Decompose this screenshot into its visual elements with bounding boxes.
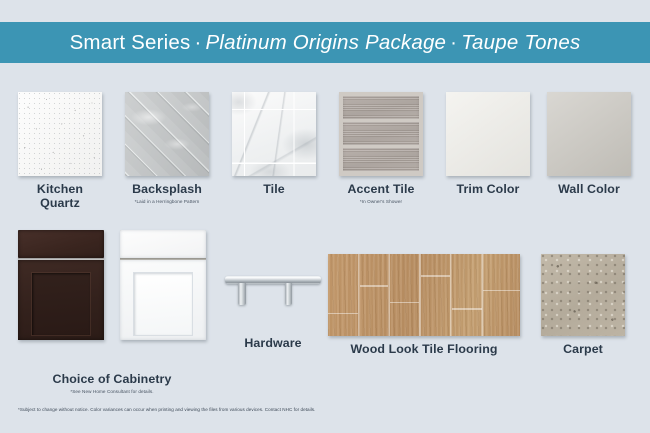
cabinet-door-front: [18, 260, 104, 340]
pull-post-left: [238, 283, 245, 305]
plank-horizontal-seam: [421, 275, 450, 276]
cabinet-drawer-front: [120, 230, 206, 258]
cabinetry-sublabel: *See New Home Consultant for details.: [18, 389, 206, 394]
backsplash-swatch[interactable]: [125, 92, 209, 176]
white-shaker-cabinet-swatch[interactable]: [120, 230, 206, 340]
accent-tile-swatch[interactable]: [339, 92, 423, 176]
swatch-cell-tile[interactable]: Tile: [232, 92, 316, 197]
tile-swatch[interactable]: [232, 92, 316, 176]
kitchen-quartz-label-line2: Quartz: [40, 196, 80, 210]
tile-gloss-highlight: [125, 92, 209, 176]
trim-color-swatch[interactable]: [446, 92, 530, 176]
wood-look-tile-flooring-swatch[interactable]: [328, 254, 520, 336]
swatch-cell-carpet[interactable]: Carpet: [541, 254, 625, 357]
dark-espresso-cabinet-swatch[interactable]: [18, 230, 104, 340]
swatch-cell-wall-color[interactable]: Wall Color: [547, 92, 631, 197]
pull-post-right: [285, 283, 292, 305]
backsplash-sublabel: *Laid in a Herringbone Pattern: [125, 199, 209, 204]
cabinet-center-panel: [134, 273, 193, 335]
cabinet-center-panel: [32, 273, 91, 335]
bar-pull-hardware-swatch[interactable]: [225, 262, 321, 308]
selection-board: Smart Series·Platinum Origins Package·Ta…: [0, 0, 650, 433]
accent-tile-sublabel: *In Owner's Shower: [339, 199, 423, 204]
carpet-label: Carpet: [541, 343, 625, 357]
cabinet-option-dark[interactable]: [18, 230, 104, 340]
footer-disclaimer: *Subject to change without notice. Color…: [18, 406, 578, 413]
accent-plank-3: [343, 148, 419, 171]
carpet-swatch[interactable]: [541, 254, 625, 336]
trim-color-label: Trim Color: [446, 183, 530, 197]
kitchen-quartz-swatch[interactable]: [18, 92, 102, 176]
plank-horizontal-seam: [452, 308, 482, 309]
plank-horizontal-seam: [360, 285, 389, 286]
tile-label: Tile: [232, 183, 316, 197]
wall-color-swatch[interactable]: [547, 92, 631, 176]
kitchen-quartz-label: Kitchen Quartz: [18, 183, 102, 210]
hardware-label: Hardware: [225, 337, 321, 351]
cabinetry-label: Choice of Cabinetry: [18, 373, 206, 387]
swatch-cell-accent-tile[interactable]: Accent Tile *In Owner's Shower: [339, 92, 423, 204]
plank-horizontal-seam: [483, 290, 520, 291]
swatch-cell-wood-flooring[interactable]: Wood Look Tile Flooring: [328, 254, 520, 357]
header-separator-2: ·: [446, 31, 461, 54]
accent-plank-1: [343, 96, 419, 119]
wall-color-label: Wall Color: [547, 183, 631, 197]
swatch-cell-kitchen-quartz[interactable]: Kitchen Quartz: [18, 92, 102, 210]
header-tone: Taupe Tones: [461, 31, 580, 54]
plank-vertical-seams: [328, 254, 520, 336]
swatch-cell-hardware[interactable]: Hardware: [225, 262, 321, 351]
header-package: Platinum Origins Package: [205, 31, 446, 54]
grout-lines: [232, 92, 316, 176]
wood-flooring-label: Wood Look Tile Flooring: [328, 343, 520, 357]
page-title: Smart Series·Platinum Origins Package·Ta…: [70, 31, 581, 55]
header-brand: Smart Series: [70, 31, 191, 54]
plank-horizontal-seam: [390, 302, 419, 303]
accent-plank-2: [343, 122, 419, 145]
header-band: Smart Series·Platinum Origins Package·Ta…: [0, 22, 650, 63]
backsplash-label: Backsplash: [125, 183, 209, 197]
cabinet-door-front: [120, 260, 206, 340]
kitchen-quartz-label-line1: Kitchen: [37, 182, 83, 196]
swatch-cell-backsplash[interactable]: Backsplash *Laid in a Herringbone Patter…: [125, 92, 209, 204]
header-separator-1: ·: [190, 31, 205, 54]
accent-tile-label: Accent Tile: [339, 183, 423, 197]
cabinetry-label-group: Choice of Cabinetry *See New Home Consul…: [18, 373, 206, 394]
swatch-cell-trim-color[interactable]: Trim Color: [446, 92, 530, 197]
cabinet-option-white[interactable]: [120, 230, 206, 340]
cabinet-drawer-front: [18, 230, 104, 258]
plank-horizontal-seam: [328, 313, 358, 314]
